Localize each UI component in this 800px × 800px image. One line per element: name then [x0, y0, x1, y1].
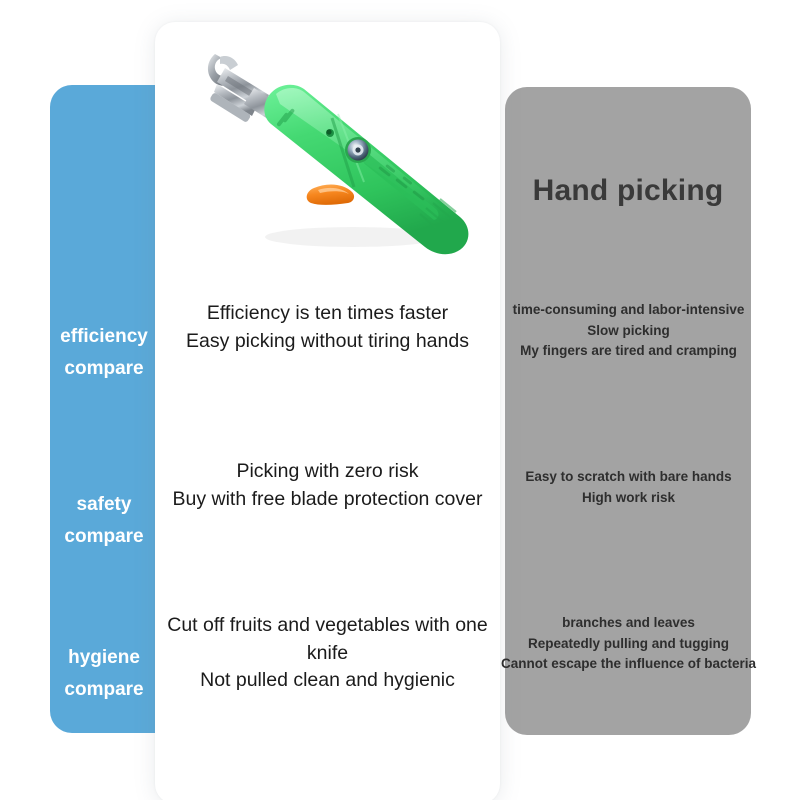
product-image: [168, 32, 478, 272]
hand-picking-title: Hand picking: [505, 174, 751, 208]
sidebar-item-safety[interactable]: safety compare: [50, 458, 158, 552]
sidebar-item-label: hygiene compare: [64, 647, 143, 699]
sidebar-item-hygiene[interactable]: hygiene compare: [50, 611, 158, 705]
hand-picking-safety: Easy to scratch with bare hands High wor…: [496, 467, 761, 508]
sidebar-item-label: safety compare: [64, 494, 143, 546]
trigger: [307, 185, 354, 205]
sidebar-item-efficiency[interactable]: efficiency compare: [50, 290, 158, 384]
hand-picking-efficiency: time-consuming and labor-intensive Slow …: [496, 300, 761, 362]
hand-picking-hygiene: branches and leaves Repeatedly pulling a…: [496, 613, 761, 675]
product-benefit-efficiency: Efficiency is ten times faster Easy pick…: [160, 300, 495, 355]
product-benefit-hygiene: Cut off fruits and vegetables with one k…: [160, 612, 495, 695]
product-benefit-safety: Picking with zero risk Buy with free bla…: [160, 458, 495, 513]
sidebar-item-label: efficiency compare: [60, 326, 148, 378]
comparison-infographic: efficiency compare safety compare hygien…: [0, 0, 800, 800]
